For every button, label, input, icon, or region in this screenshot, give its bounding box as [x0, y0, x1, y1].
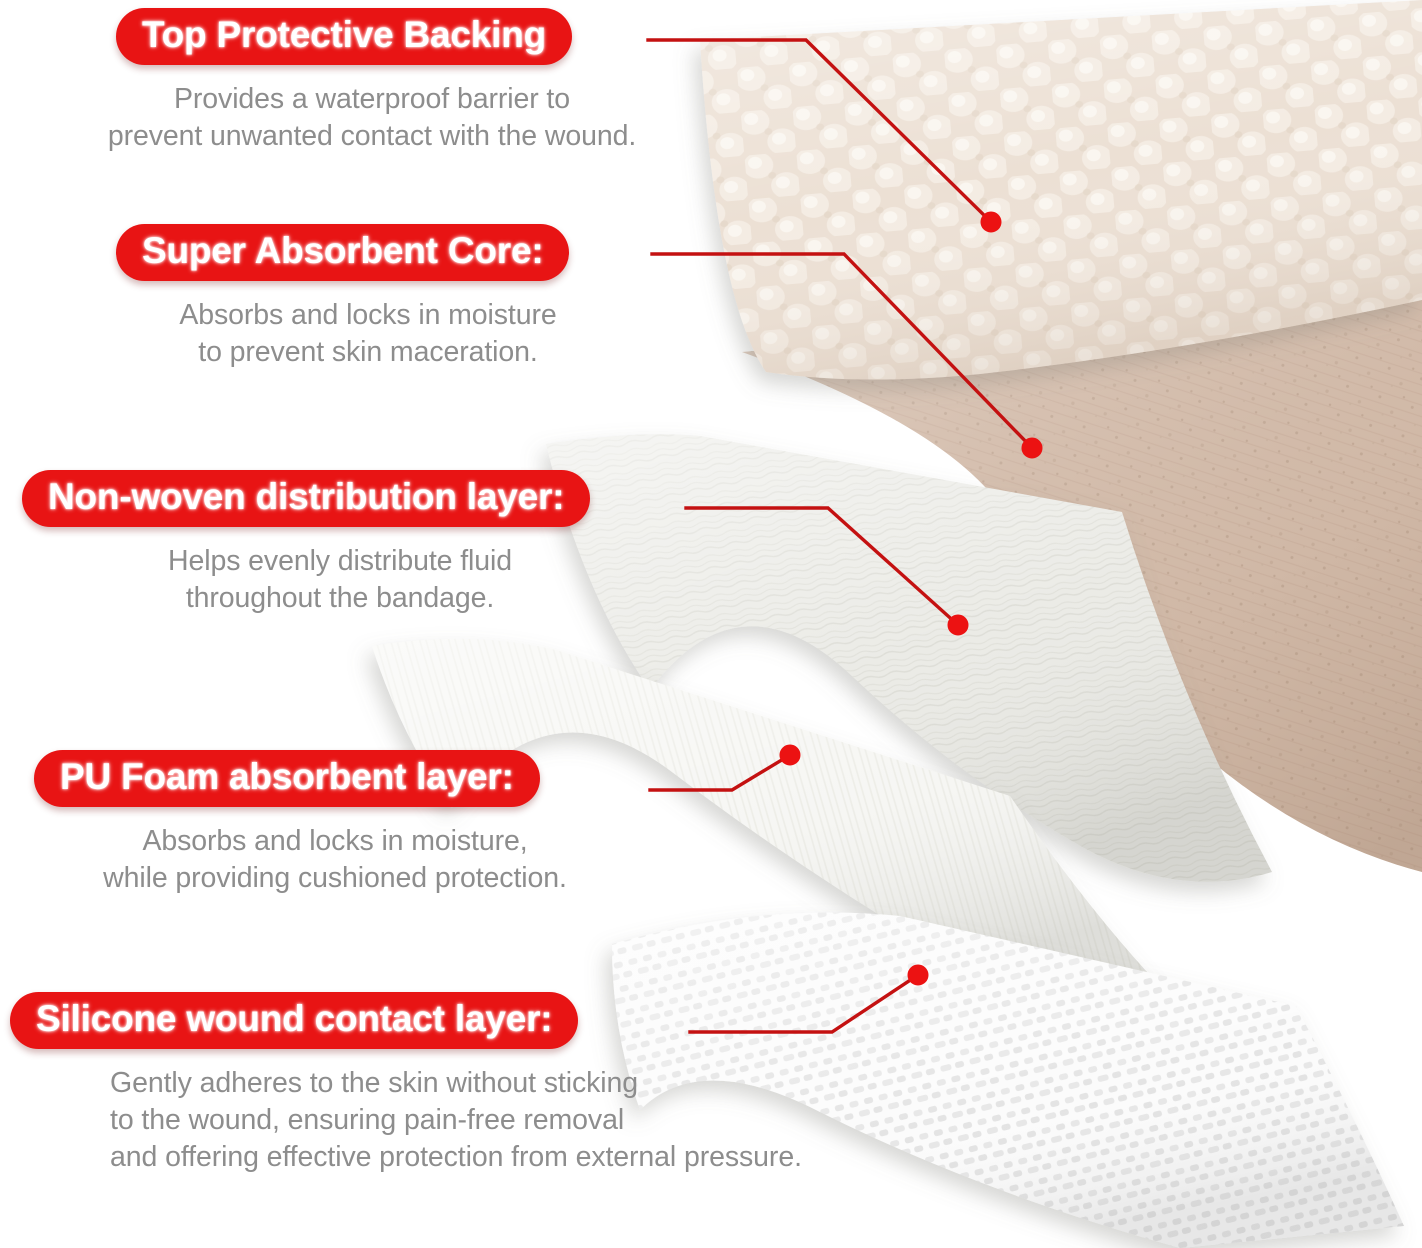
- infographic-canvas: Top Protective Backing Provides a waterp…: [0, 0, 1422, 1248]
- callout-pu-foam-absorbent-layer: PU Foam absorbent layer: Absorbs and loc…: [34, 750, 658, 897]
- badge-super-absorbent-core[interactable]: Super Absorbent Core:: [116, 224, 569, 281]
- callout-top-protective-backing: Top Protective Backing Provides a waterp…: [116, 8, 682, 155]
- badge-top-protective-backing[interactable]: Top Protective Backing: [116, 8, 572, 65]
- description-super-absorbent-core: Absorbs and locks in moisture to prevent…: [72, 297, 664, 371]
- description-top-protective-backing: Provides a waterproof barrier to prevent…: [62, 81, 682, 155]
- badge-silicone-wound-contact-layer[interactable]: Silicone wound contact layer:: [10, 992, 578, 1049]
- badge-pu-foam-absorbent-layer[interactable]: PU Foam absorbent layer:: [34, 750, 540, 807]
- description-non-woven-distribution-layer: Helps evenly distribute fluid throughout…: [4, 543, 676, 617]
- badge-non-woven-distribution-layer[interactable]: Non-woven distribution layer:: [22, 470, 590, 527]
- callout-non-woven-distribution-layer: Non-woven distribution layer: Helps even…: [22, 470, 676, 617]
- description-silicone-wound-contact-layer: Gently adheres to the skin without stick…: [110, 1065, 1000, 1176]
- description-pu-foam-absorbent-layer: Absorbs and locks in moisture, while pro…: [12, 823, 658, 897]
- callout-super-absorbent-core: Super Absorbent Core: Absorbs and locks …: [116, 224, 664, 371]
- callout-silicone-wound-contact-layer: Silicone wound contact layer: Gently adh…: [10, 992, 1000, 1176]
